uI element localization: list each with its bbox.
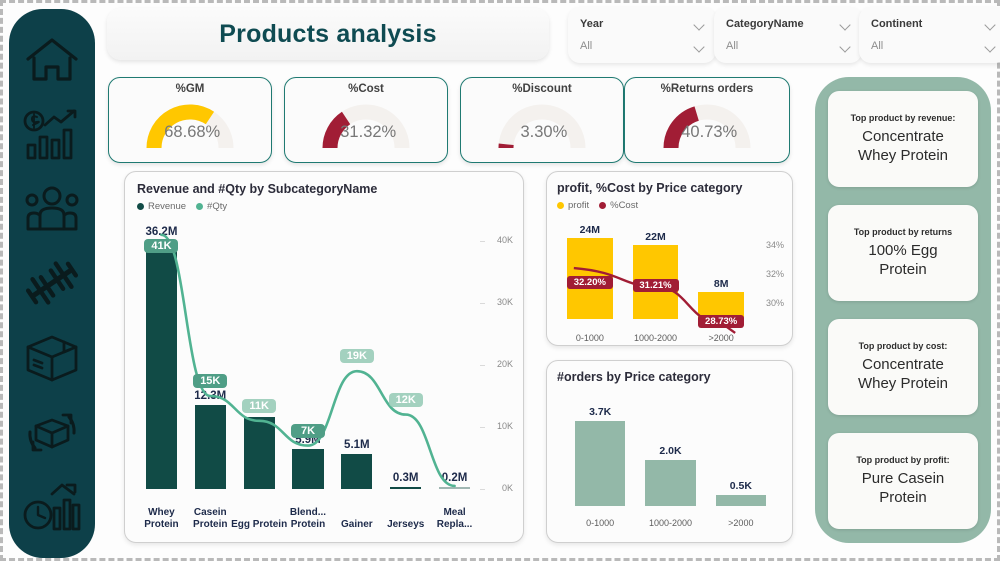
sidebar-item-returns[interactable]: [20, 403, 84, 461]
y-axis-tick-label: 34%: [758, 240, 784, 250]
filter-categoryname-value-row[interactable]: All: [726, 35, 854, 57]
kpi-returns-value: 40.73%: [681, 123, 737, 142]
y-axis-tick: [480, 241, 485, 242]
qty-value-label: 12K: [389, 393, 423, 407]
kpi-cost-title: %Cost: [285, 83, 447, 95]
qty-value-label: 19K: [340, 349, 374, 363]
qty-value-label: 15K: [193, 374, 227, 388]
legend-item-qty[interactable]: #Qty: [196, 201, 227, 212]
y-axis-tick-label: 40K: [487, 235, 513, 245]
x-axis-category-label[interactable]: >2000: [706, 518, 776, 528]
kpi-returns-title: %Returns orders: [625, 83, 789, 95]
cost-value-label: 28.73%: [698, 315, 744, 328]
chart-profit-title: profit, %Cost by Price category: [557, 181, 782, 195]
top-product-cost-label: Top product by cost:: [859, 341, 948, 351]
chart-orders-by-price-category[interactable]: #orders by Price category 3.7K2.0K0.5K0-…: [546, 360, 793, 543]
y-axis-tick: [480, 303, 485, 304]
kpi-card-cost[interactable]: %Cost 31.32%: [284, 77, 448, 163]
y-axis-tick-label: 10K: [487, 421, 513, 431]
legend-swatch-revenue: [137, 203, 144, 210]
chart-orders-plot: 3.7K2.0K0.5K0-10001000-2000>2000: [557, 392, 784, 532]
legend-item-profit[interactable]: profit: [557, 200, 589, 211]
sidebar-item-sales[interactable]: [20, 106, 84, 164]
top-product-revenue-value: ConcentrateWhey Protein: [858, 127, 948, 165]
y-axis-tick-label: 20K: [487, 359, 513, 369]
legend-swatch-cost: [599, 202, 606, 209]
chart-profit-cost-by-price-category[interactable]: profit, %Cost by Price category profit %…: [546, 171, 793, 346]
page-title-text: Products analysis: [219, 20, 436, 49]
top-product-cost-value: ConcentrateWhey Protein: [858, 355, 948, 393]
chevron-down-icon[interactable]: [694, 21, 705, 28]
filter-continent-value-row[interactable]: All: [871, 35, 999, 57]
top-product-cost-card[interactable]: Top product by cost: ConcentrateWhey Pro…: [828, 319, 978, 415]
chart-profit-legend: profit %Cost: [557, 200, 782, 211]
kpi-gm-title: %GM: [109, 83, 271, 95]
y-axis-tick: [480, 489, 485, 490]
kpi-card-gm[interactable]: %GM 68.68%: [108, 77, 272, 163]
filter-categoryname[interactable]: CategoryName All: [714, 7, 862, 63]
y-axis-tick-label: 32%: [758, 269, 784, 279]
cost-value-label: 32.20%: [567, 276, 613, 289]
legend-label-revenue: Revenue: [148, 201, 186, 212]
chevron-down-icon[interactable]: [985, 21, 996, 28]
legend-label-qty: #Qty: [207, 201, 227, 212]
legend-item-cost[interactable]: %Cost: [599, 200, 638, 211]
sidebar-item-time-analysis[interactable]: [20, 478, 84, 536]
left-sidebar: [9, 9, 95, 558]
people-group-icon: [22, 185, 82, 233]
kpi-card-returns[interactable]: %Returns orders 40.73%: [624, 77, 790, 163]
money-growth-chart-icon: [22, 108, 82, 162]
filter-categoryname-value: All: [726, 40, 738, 52]
top-product-profit-label: Top product by profit:: [856, 455, 949, 465]
sidebar-item-home[interactable]: [20, 31, 84, 89]
bar-orders[interactable]: [716, 495, 767, 506]
chart-main-legend: Revenue #Qty: [137, 201, 511, 212]
clock-bar-chart-icon: [22, 482, 82, 532]
page-title: Products analysis: [107, 8, 549, 60]
chart-profit-plot: 30%32%34%24M22M8M32.20%31.21%28.73%0-100…: [557, 215, 784, 345]
chart-main-plot: 0K10K20K30K40K36.2M12.3M5.9M5.1M0.3M0.2M…: [137, 215, 513, 533]
filter-continent-value: All: [871, 40, 883, 52]
y-axis-tick-label: 0K: [487, 483, 513, 493]
top-products-panel: Top product by revenue: ConcentrateWhey …: [815, 77, 991, 543]
x-axis-category-label[interactable]: 0-1000: [557, 333, 623, 343]
x-axis-category-label[interactable]: 1000-2000: [635, 518, 705, 528]
bar-value-label: 3.7K: [565, 406, 635, 418]
sidebar-item-customers[interactable]: [20, 180, 84, 238]
chart-main-title: Revenue and #Qty by SubcategoryName: [137, 182, 511, 196]
x-axis-category-label[interactable]: 0-1000: [565, 518, 635, 528]
y-axis-tick: [480, 427, 485, 428]
bar-value-label: 2.0K: [635, 445, 705, 457]
chart-orders-title: #orders by Price category: [557, 370, 782, 384]
dumbbell-icon: [23, 260, 81, 306]
top-product-revenue-label: Top product by revenue:: [851, 113, 956, 123]
y-axis-tick-label: 30K: [487, 297, 513, 307]
top-product-profit-card[interactable]: Top product by profit: Pure CaseinProtei…: [828, 433, 978, 529]
kpi-cost-body: 31.32%: [285, 95, 447, 157]
top-product-profit-value: Pure CaseinProtein: [862, 469, 945, 507]
cost-value-label: 31.21%: [633, 279, 679, 292]
box-return-arrows-icon: [23, 406, 81, 458]
chevron-down-icon[interactable]: [985, 43, 996, 50]
sidebar-item-inventory[interactable]: [20, 329, 84, 387]
filter-year[interactable]: Year All: [568, 7, 716, 63]
legend-item-revenue[interactable]: Revenue: [137, 201, 186, 212]
bar-orders[interactable]: [645, 460, 696, 506]
qty-value-label: 41K: [144, 239, 178, 253]
legend-swatch-profit: [557, 202, 564, 209]
kpi-discount-body: 3.30%: [461, 95, 623, 157]
top-product-returns-value: 100% EggProtein: [868, 241, 937, 279]
top-product-revenue-card[interactable]: Top product by revenue: ConcentrateWhey …: [828, 91, 978, 187]
filter-year-label: Year: [580, 18, 603, 30]
kpi-discount-value: 3.30%: [520, 123, 567, 142]
filter-categoryname-header[interactable]: CategoryName: [726, 13, 854, 35]
kpi-discount-title: %Discount: [461, 83, 623, 95]
chevron-down-icon[interactable]: [840, 21, 851, 28]
filter-year-value: All: [580, 40, 592, 52]
filter-year-header[interactable]: Year: [580, 13, 708, 35]
kpi-gm-body: 68.68%: [109, 95, 271, 157]
legend-swatch-qty: [196, 203, 203, 210]
filter-continent-label: Continent: [871, 18, 922, 30]
bar-orders[interactable]: [575, 421, 626, 506]
y-axis-tick: [480, 365, 485, 366]
filter-continent[interactable]: Continent All: [859, 7, 1000, 63]
chart-revenue-qty-by-subcategory[interactable]: Revenue and #Qty by SubcategoryName Reve…: [124, 171, 524, 543]
x-axis-category-label[interactable]: 1000-2000: [623, 333, 689, 343]
kpi-gm-value: 68.68%: [164, 123, 220, 142]
bar-value-label: 0.5K: [706, 480, 776, 492]
filter-year-value-row[interactable]: All: [580, 35, 708, 57]
top-product-returns-card[interactable]: Top product by returns 100% EggProtein: [828, 205, 978, 301]
chevron-down-icon[interactable]: [840, 43, 851, 50]
x-axis-category-label[interactable]: Meal Repla...: [426, 507, 483, 531]
home-icon: [24, 37, 80, 83]
qty-value-label: 11K: [242, 399, 276, 413]
legend-label-cost: %Cost: [610, 200, 638, 211]
dashboard-canvas: Products analysis Year All CategoryName …: [0, 0, 1000, 561]
kpi-cost-value: 31.32%: [340, 123, 396, 142]
kpi-returns-body: 40.73%: [625, 95, 789, 157]
qty-value-label: 7K: [291, 424, 325, 438]
box-icon: [24, 332, 80, 384]
legend-label-profit: profit: [568, 200, 589, 211]
kpi-card-discount[interactable]: %Discount 3.30%: [460, 77, 624, 163]
filter-categoryname-label: CategoryName: [726, 18, 804, 30]
filter-continent-header[interactable]: Continent: [871, 13, 999, 35]
sidebar-item-products[interactable]: [20, 254, 84, 312]
top-product-returns-label: Top product by returns: [854, 227, 952, 237]
y-axis-tick-label: 30%: [758, 298, 784, 308]
x-axis-category-label[interactable]: >2000: [688, 333, 754, 343]
chevron-down-icon[interactable]: [694, 43, 705, 50]
line-series-qty: [137, 215, 479, 533]
